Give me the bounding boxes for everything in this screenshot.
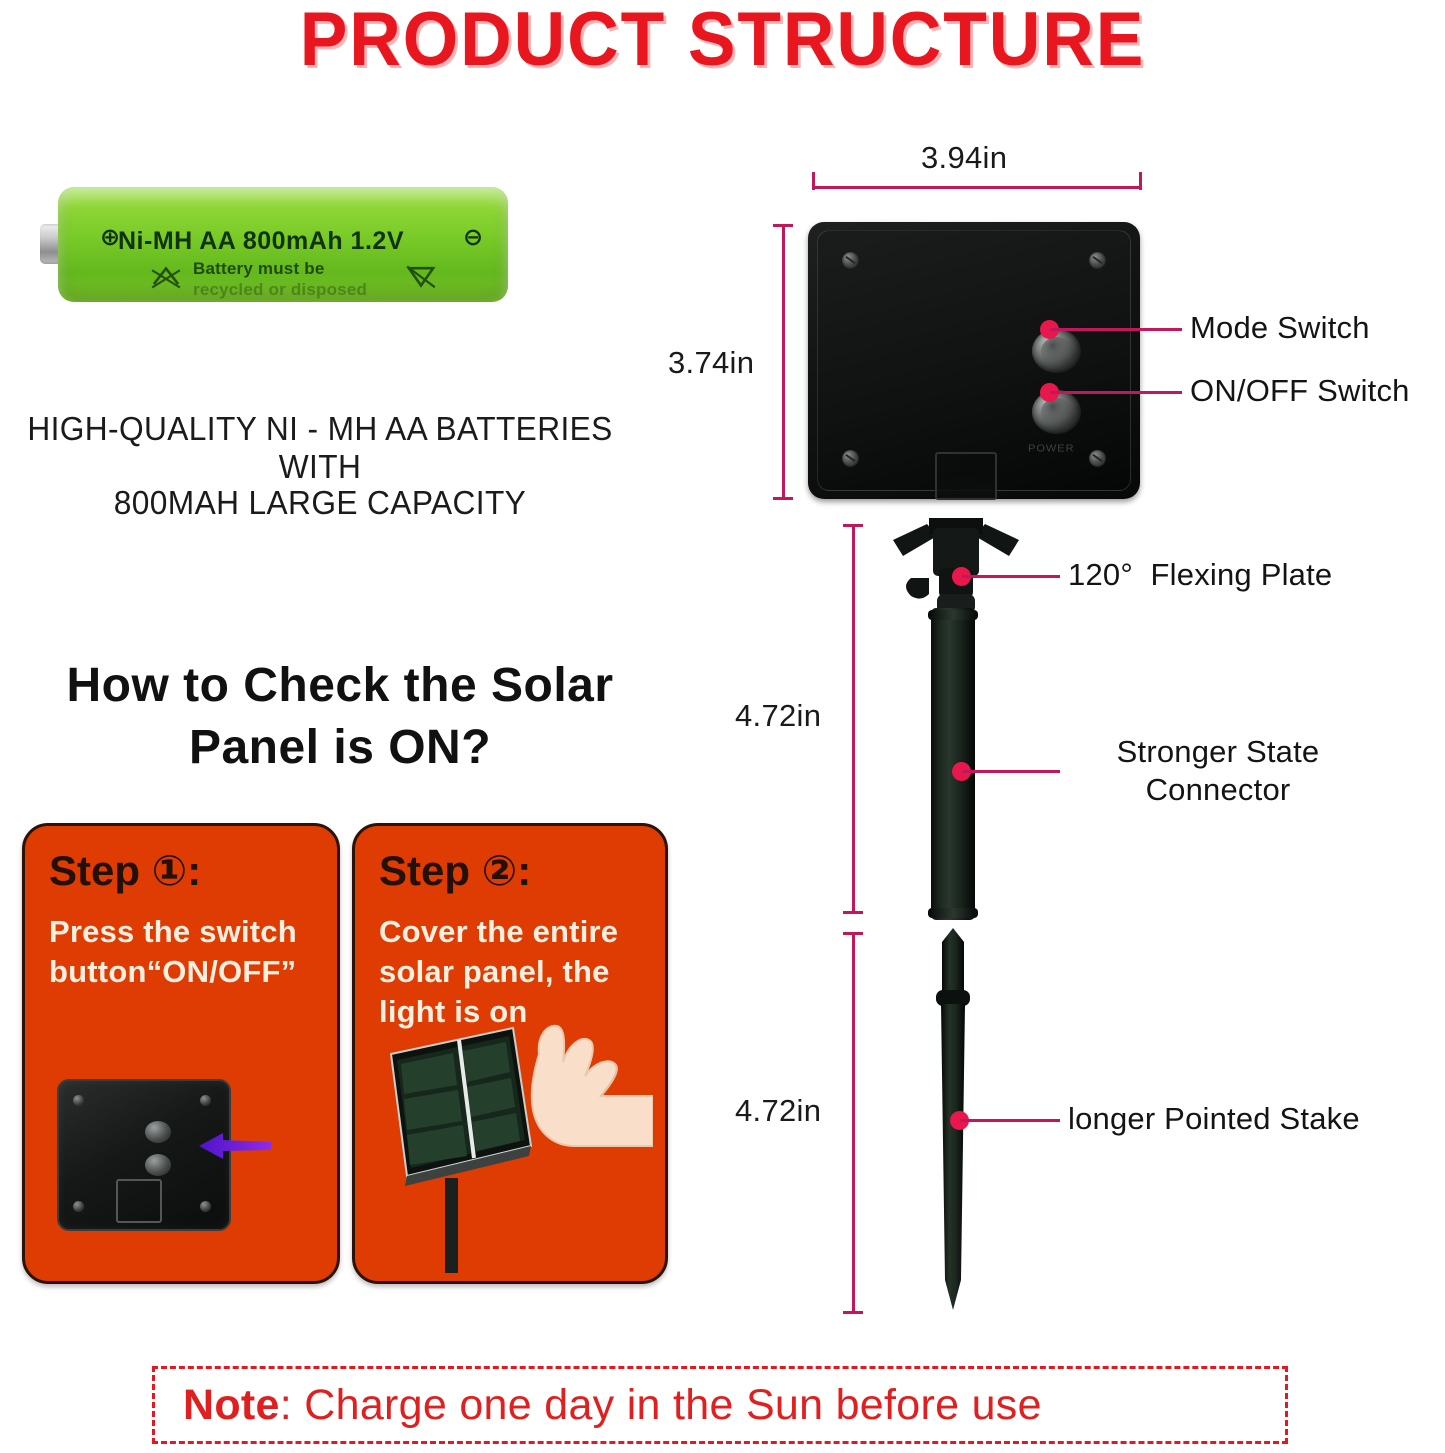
solar-panel-with-hand-illustration	[373, 1006, 653, 1271]
recycle-icon	[148, 265, 184, 291]
page-title: PRODUCT STRUCTURE	[43, 0, 1401, 83]
mini-port	[116, 1179, 162, 1223]
howto-line1: How to Check the Solar	[66, 659, 613, 712]
flexing-plate-bracket	[893, 518, 1019, 614]
screw-icon	[1089, 450, 1106, 467]
note-rest-label: : Charge one day in the Sun before use	[280, 1381, 1042, 1429]
mini-onoff-switch-button	[145, 1154, 171, 1176]
pole-dim-cap-top	[843, 524, 863, 527]
width-dimension-line	[812, 186, 1142, 189]
hand-icon	[503, 1018, 653, 1178]
mini-screw-icon	[73, 1095, 84, 1106]
screw-icon	[1089, 252, 1106, 269]
battery-minus-icon: ⊖	[463, 223, 483, 252]
width-dim-cap-left	[812, 172, 815, 190]
stake-callout-line	[960, 1119, 1060, 1122]
callout-label-stronger-state-connector: Stronger State Connector	[1068, 733, 1368, 809]
height-dimension-line	[782, 224, 785, 500]
note-text: Note: Charge one day in the Sun before u…	[155, 1381, 1042, 1430]
flexing-plate-callout-line	[962, 575, 1060, 578]
callout-label-onoff-switch: ON/OFF Switch	[1190, 372, 1410, 410]
step-card-2: Step ②: Cover the entire solar panel, th…	[352, 823, 668, 1284]
connector-callout-line	[962, 770, 1060, 773]
panel-port	[935, 452, 997, 500]
pole-dimension-label: 4.72in	[735, 698, 821, 734]
stake-dimension-label: 4.72in	[735, 1093, 821, 1129]
step-1-title: Step ①:	[49, 846, 201, 895]
battery-caption-line2: 800MAH LARGE CAPACITY	[13, 484, 627, 522]
mini-screw-icon	[200, 1095, 211, 1106]
howto-line2: Panel is ON?	[189, 721, 491, 774]
mini-screw-icon	[73, 1201, 84, 1212]
screw-icon	[842, 450, 859, 467]
stake-dim-cap-bottom	[843, 1311, 863, 1314]
battery-recycle-line1: Battery must be	[193, 259, 493, 279]
battery-caption-line1: HIGH-QUALITY NI - MH AA BATTERIES WITH	[13, 410, 627, 486]
mini-screw-icon	[200, 1201, 211, 1212]
step-2-title: Step ②:	[379, 846, 531, 895]
height-dim-cap-top	[773, 224, 793, 227]
note-strong-label: Note	[183, 1381, 280, 1429]
stake-dim-cap-top	[843, 932, 863, 935]
pole-dim-cap-bottom	[843, 911, 863, 914]
battery-spec-text: Ni-MH AA 800mAh 1.2V	[118, 227, 498, 256]
pole-ring-bottom	[928, 908, 978, 918]
step-1-body: Press the switch button“ON/OFF”	[49, 912, 327, 992]
battery-body: ⊕ Ni-MH AA 800mAh 1.2V ⊖ Battery must be…	[58, 187, 508, 302]
callout-label-flexing-plate: 120° Flexing Plate	[1068, 556, 1332, 594]
callout-label-mode-switch: Mode Switch	[1190, 309, 1370, 347]
pole-dimension-line	[852, 524, 855, 914]
width-dimension-label: 3.94in	[921, 140, 1007, 176]
stake-dimension-line	[852, 932, 855, 1314]
no-disposal-icon	[403, 263, 439, 289]
height-dimension-label: 3.74in	[668, 345, 754, 381]
step-card-1: Step ①: Press the switch button“ON/OFF”	[22, 823, 340, 1284]
mini-mode-switch-button	[145, 1121, 171, 1143]
note-banner: Note: Charge one day in the Sun before u…	[152, 1366, 1288, 1444]
solar-panel-pole	[445, 1178, 458, 1273]
screw-icon	[842, 252, 859, 269]
howto-heading: How to Check the Solar Panel is ON?	[0, 655, 680, 779]
width-dim-cap-right	[1139, 172, 1142, 190]
purple-pointer-arrow-icon	[193, 1132, 271, 1160]
battery-illustration: ⊕ Ni-MH AA 800mAh 1.2V ⊖ Battery must be…	[40, 182, 510, 307]
power-label: POWER	[1028, 444, 1075, 455]
pole-ring-top	[928, 610, 978, 620]
callout-label-pointed-stake: longer Pointed Stake	[1068, 1100, 1360, 1138]
mode-switch-callout-line	[1050, 328, 1182, 331]
onoff-switch-callout-line	[1050, 391, 1182, 394]
battery-recycle-line2: recycled or disposed	[193, 280, 493, 300]
height-dim-cap-bottom	[773, 497, 793, 500]
